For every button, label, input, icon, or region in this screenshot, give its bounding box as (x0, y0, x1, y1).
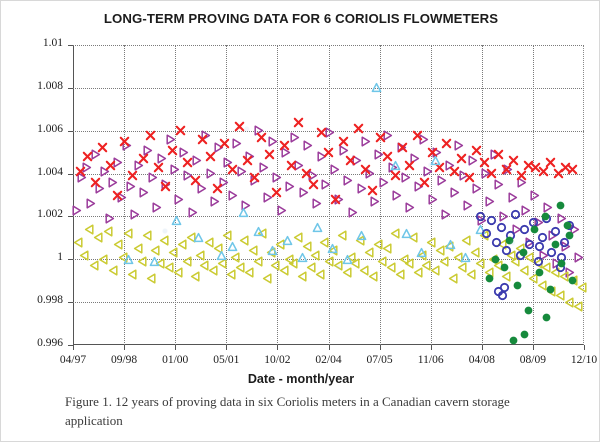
x-axis-tick-mark (533, 345, 534, 350)
y-axis-tick-label: 1.008 (1, 80, 63, 92)
gridline-vertical (175, 45, 176, 345)
figure-container: LONG-TERM PROVING DATA FOR 6 CORIOLIS FL… (0, 0, 600, 442)
y-axis-tick-mark (68, 88, 73, 89)
gridline-vertical (124, 45, 125, 345)
x-axis-tick-mark (124, 345, 125, 350)
x-axis-tick-mark (73, 345, 74, 350)
gridline-vertical (380, 45, 381, 345)
y-axis-tick-mark (68, 216, 73, 217)
x-axis-tick-label: 12/10 (552, 354, 600, 366)
chart-title: LONG-TERM PROVING DATA FOR 6 CORIOLIS FL… (1, 11, 600, 26)
x-axis-tick-mark (380, 345, 381, 350)
gridline-vertical (431, 45, 432, 345)
y-axis-tick-label: 1 (1, 251, 63, 263)
y-axis-tick-mark (68, 45, 73, 46)
x-axis-tick-mark (226, 345, 227, 350)
y-axis-tick-mark (68, 302, 73, 303)
x-axis-tick-mark (329, 345, 330, 350)
gridline-vertical (277, 45, 278, 345)
y-axis-tick-label: 1.006 (1, 123, 63, 135)
gridline-vertical (329, 45, 330, 345)
y-axis-tick-label: 1.002 (1, 208, 63, 220)
x-axis-tick-mark (175, 345, 176, 350)
gridline-vertical (226, 45, 227, 345)
x-axis-tick-mark (482, 345, 483, 350)
y-axis-tick-mark (68, 259, 73, 260)
x-axis-tick-mark (277, 345, 278, 350)
x-axis-tick-mark (584, 345, 585, 350)
y-axis-tick-mark (68, 174, 73, 175)
y-axis-tick-mark (68, 131, 73, 132)
gridline-vertical (482, 45, 483, 345)
y-axis-title: Meter Factor (0, 71, 2, 231)
gridline-vertical (533, 45, 534, 345)
y-axis-tick-label: 1.004 (1, 166, 63, 178)
x-axis-tick-mark (431, 345, 432, 350)
figure-caption: Figure 1. 12 years of proving data in si… (65, 393, 535, 431)
y-axis-tick-label: 0.998 (1, 294, 63, 306)
chart-plot-area (73, 45, 584, 345)
y-axis-tick-label: 1.01 (1, 37, 63, 49)
y-axis-tick-label: 0.996 (1, 337, 63, 349)
x-axis-title: Date - month/year (1, 372, 600, 386)
